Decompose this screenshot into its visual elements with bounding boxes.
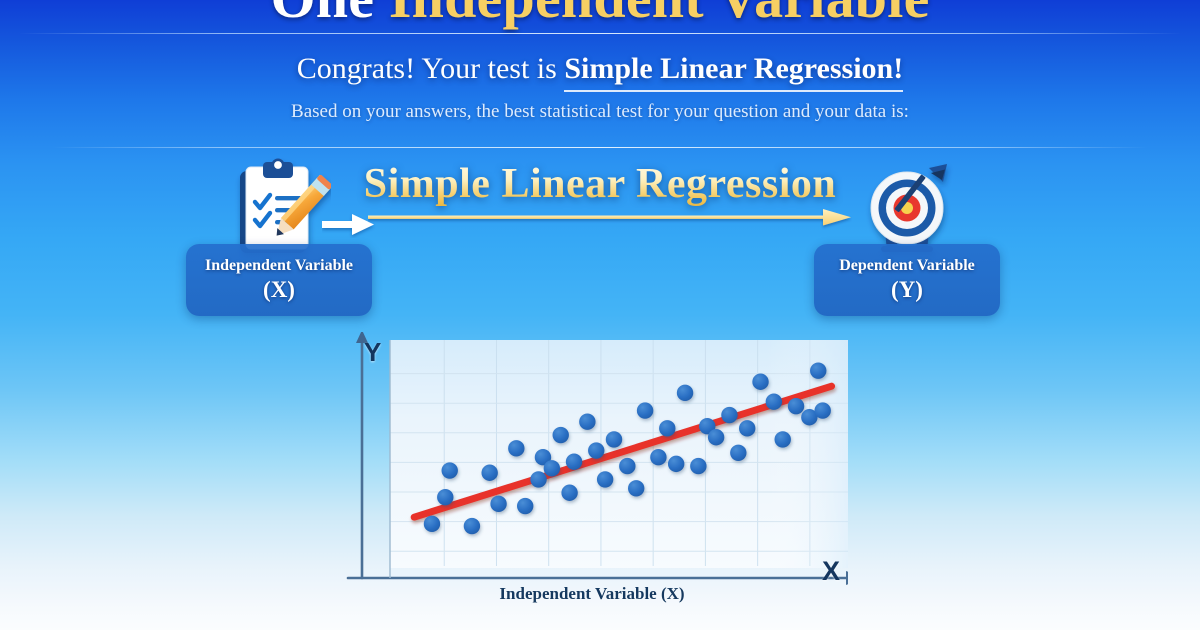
headline-prefix: Congrats! Your test is — [297, 52, 565, 85]
node-dependent-variable: Dependent Variable (Y) — [814, 158, 1000, 316]
y-axis-letter: Y — [364, 337, 381, 368]
page-title-gold: Independent Variable — [389, 0, 930, 30]
page-title-white: One — [270, 0, 374, 30]
infographic-stage: One Independent Variable Congrats! Your … — [0, 0, 1200, 630]
dependent-variable-label-line1: Dependent Variable — [822, 257, 992, 275]
node-independent-variable: Independent Variable (X) — [186, 158, 372, 316]
x-axis-letter: X — [822, 556, 840, 587]
divider-mid — [52, 147, 1148, 148]
headline: Congrats! Your test is Simple Linear Reg… — [0, 52, 1200, 86]
subheadline: Based on your answers, the best statisti… — [0, 101, 1200, 123]
independent-variable-label-box: Independent Variable (X) — [186, 244, 372, 316]
scatter-chart — [336, 332, 848, 608]
dependent-variable-label-line2: (Y) — [822, 277, 992, 303]
headline-emphasis: Simple Linear Regression! — [564, 52, 903, 85]
divider-top — [18, 33, 1182, 34]
independent-variable-label-line2: (X) — [194, 277, 364, 303]
headline-emphasis-text: Simple Linear Regression! — [564, 52, 903, 85]
dependent-variable-label-box: Dependent Variable (Y) — [814, 244, 1000, 316]
headline-underline — [564, 90, 903, 92]
flow-title: Simple Linear Regression — [0, 160, 1200, 208]
x-axis-caption: Independent Variable (X) — [336, 584, 848, 604]
page-title: One Independent Variable — [0, 0, 1200, 31]
independent-variable-label-line1: Independent Variable — [194, 257, 364, 275]
gold-arrow-icon — [368, 206, 852, 232]
